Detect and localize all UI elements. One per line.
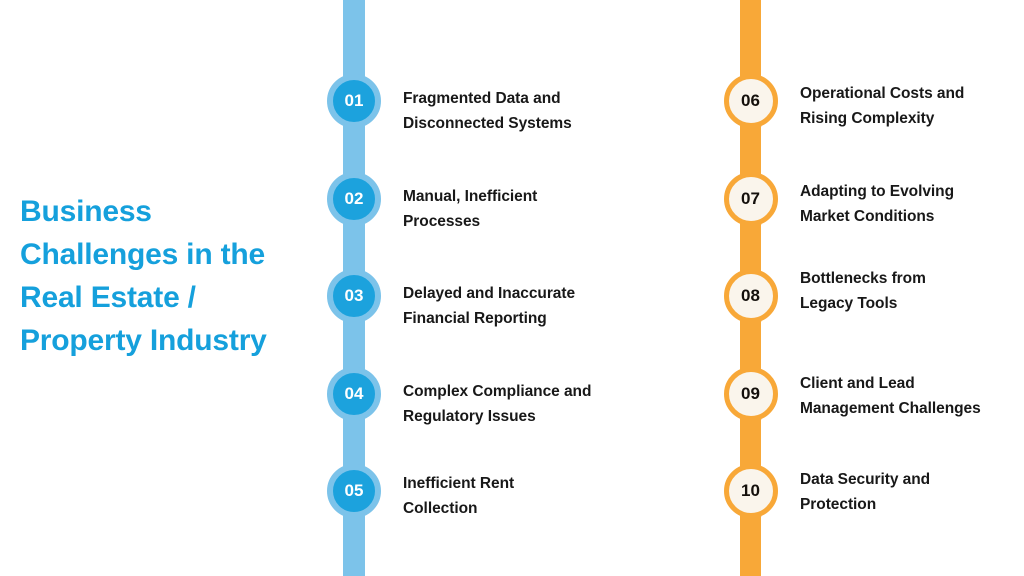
page-title-line-1: Business	[20, 190, 320, 233]
timeline-node-number-05: 05	[345, 481, 364, 501]
timeline-node-number-04: 04	[345, 384, 364, 404]
timeline-item-label-06: Operational Costs and Rising Complexity	[800, 82, 1024, 131]
timeline-item-label-07: Adapting to Evolving Market Conditions	[800, 180, 1024, 229]
timeline-node-number-09: 09	[741, 384, 760, 404]
timeline-item-label-01: Fragmented Data and Disconnected Systems	[403, 87, 683, 136]
timeline-blue: 01 02 03 04 05 Fragmented Data and Disco…	[343, 0, 365, 576]
timeline-item-label-09: Client and Lead Management Challenges	[800, 372, 1024, 421]
timeline-item-label-10: Data Security and Protection	[800, 468, 1024, 517]
timeline-item-label-05: Inefficient Rent Collection	[403, 472, 683, 521]
timeline-node-number-03: 03	[345, 286, 364, 306]
timeline-item-label-03-line1: Delayed and Inaccurate	[403, 285, 575, 302]
timeline-item-label-04-line2: Regulatory Issues	[403, 405, 683, 430]
timeline-item-label-08-line1: Bottlenecks from	[800, 270, 926, 287]
timeline-node-number-01: 01	[345, 91, 364, 111]
timeline-item-label-06-line1: Operational Costs and	[800, 85, 964, 102]
infographic-canvas: Business Challenges in the Real Estate /…	[0, 0, 1024, 576]
timeline-node-number-06: 06	[741, 91, 760, 111]
timeline-item-label-05-line2: Collection	[403, 497, 683, 522]
timeline-node-number-10: 10	[741, 481, 760, 501]
timeline-item-label-04: Complex Compliance and Regulatory Issues	[403, 380, 683, 429]
timeline-node-05[interactable]: 05	[327, 464, 381, 518]
timeline-item-label-02: Manual, Inefficient Processes	[403, 185, 683, 234]
timeline-node-03[interactable]: 03	[327, 269, 381, 323]
timeline-item-label-10-line2: Protection	[800, 493, 1024, 518]
timeline-item-label-10-line1: Data Security and	[800, 471, 930, 488]
timeline-item-label-03: Delayed and Inaccurate Financial Reporti…	[403, 282, 683, 331]
timeline-item-label-08-line2: Legacy Tools	[800, 292, 1024, 317]
page-title-line-2: Challenges in the	[20, 233, 320, 276]
timeline-item-label-02-line2: Processes	[403, 210, 683, 235]
timeline-item-label-06-line2: Rising Complexity	[800, 107, 1024, 132]
timeline-node-number-02: 02	[345, 189, 364, 209]
timeline-orange: 06 07 08 09 10 Operational Costs and Ris…	[740, 0, 761, 576]
timeline-node-number-08: 08	[741, 286, 760, 306]
timeline-node-number-07: 07	[741, 189, 760, 209]
timeline-node-08[interactable]: 08	[724, 269, 778, 323]
timeline-node-10[interactable]: 10	[724, 464, 778, 518]
page-title: Business Challenges in the Real Estate /…	[20, 190, 320, 362]
timeline-node-07[interactable]: 07	[724, 172, 778, 226]
timeline-item-label-07-line2: Market Conditions	[800, 205, 1024, 230]
timeline-item-label-07-line1: Adapting to Evolving	[800, 183, 954, 200]
timeline-item-label-02-line1: Manual, Inefficient	[403, 188, 537, 205]
page-title-line-3: Real Estate /	[20, 276, 320, 319]
timeline-item-label-01-line2: Disconnected Systems	[403, 112, 683, 137]
timeline-item-label-08: Bottlenecks from Legacy Tools	[800, 267, 1024, 316]
timeline-item-label-03-line2: Financial Reporting	[403, 307, 683, 332]
timeline-node-04[interactable]: 04	[327, 367, 381, 421]
timeline-node-02[interactable]: 02	[327, 172, 381, 226]
timeline-item-label-05-line1: Inefficient Rent	[403, 475, 514, 492]
timeline-item-label-04-line1: Complex Compliance and	[403, 383, 591, 400]
page-title-line-4: Property Industry	[20, 319, 320, 362]
timeline-item-label-09-line1: Client and Lead	[800, 375, 915, 392]
timeline-node-01[interactable]: 01	[327, 74, 381, 128]
timeline-node-06[interactable]: 06	[724, 74, 778, 128]
timeline-item-label-01-line1: Fragmented Data and	[403, 90, 561, 107]
timeline-item-label-09-line2: Management Challenges	[800, 397, 1024, 422]
timeline-node-09[interactable]: 09	[724, 367, 778, 421]
